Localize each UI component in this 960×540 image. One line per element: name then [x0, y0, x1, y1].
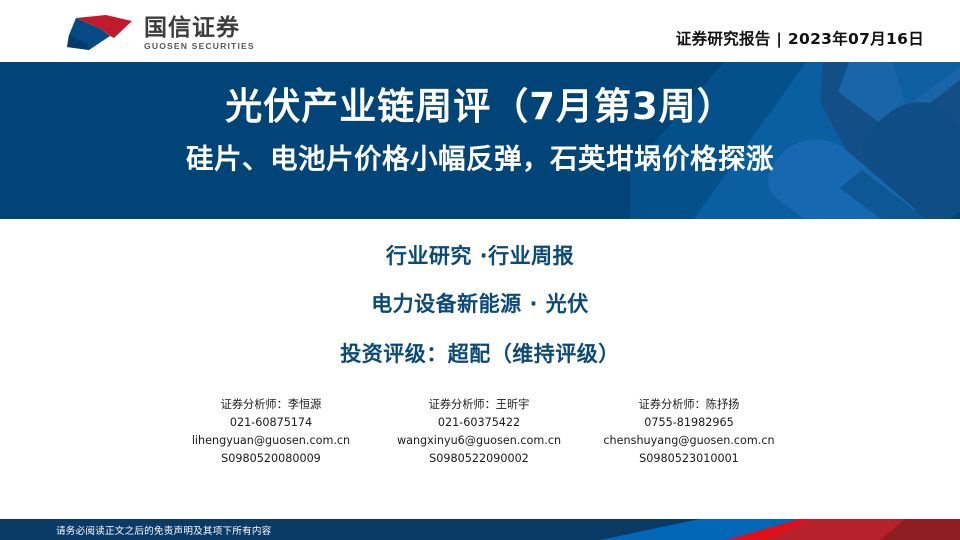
analyst-contacts: 证券分析师：李恒源 021-60875174 lihengyuan@guosen… [0, 396, 960, 469]
analyst-email[interactable]: lihengyuan@guosen.com.cn [165, 432, 377, 450]
analyst-phone: 0755-81982965 [583, 414, 795, 432]
page-subtitle: 硅片、电池片价格小幅反弹，石英坩埚价格探涨 [186, 143, 774, 176]
report-meta-block: 行业研究 ·行业周报 电力设备新能源 · 光伏 投资评级：超配（维持评级） [0, 240, 960, 368]
page-title: 光伏产业链周评（7月第3周） [225, 84, 735, 129]
analyst-certificate-number: S0980520080009 [165, 450, 377, 468]
analyst-phone: 021-60375422 [373, 414, 585, 432]
analyst-email[interactable]: chenshuyang@guosen.com.cn [583, 432, 795, 450]
page-footer: 请务必阅读正文之后的免责声明及其项下所有内容 [0, 519, 960, 540]
meta-investment-rating: 投资评级：超配（维持评级） [340, 338, 620, 368]
analyst-card: 证券分析师：王昕宇 021-60375422 wangxinyu6@guosen… [373, 396, 585, 469]
footer-disclaimer: 请务必阅读正文之后的免责声明及其项下所有内容 [56, 519, 271, 540]
banner-text-block: 光伏产业链周评（7月第3周） 硅片、电池片价格小幅反弹，石英坩埚价格探涨 [0, 62, 960, 219]
report-cover-page: 国信证券 GUOSEN SECURITIES 证券研究报告 | 2023年07月… [0, 0, 960, 540]
title-banner: 光伏产业链周评（7月第3周） 硅片、电池片价格小幅反弹，石英坩埚价格探涨 [0, 62, 960, 219]
logo-company-en: GUOSEN SECURITIES [144, 42, 255, 51]
report-type-date: 证券研究报告 | 2023年07月16日 [676, 27, 924, 49]
analyst-card: 证券分析师：李恒源 021-60875174 lihengyuan@guosen… [165, 396, 377, 469]
analyst-name: 证券分析师：陈抒扬 [583, 396, 795, 414]
analyst-phone: 021-60875174 [165, 414, 377, 432]
analyst-name: 证券分析师：李恒源 [165, 396, 377, 414]
analyst-email[interactable]: wangxinyu6@guosen.com.cn [373, 432, 585, 450]
analyst-name: 证券分析师：王昕宇 [373, 396, 585, 414]
logo-wordmark: 国信证券 GUOSEN SECURITIES [144, 16, 255, 51]
page-header: 国信证券 GUOSEN SECURITIES 证券研究报告 | 2023年07月… [0, 0, 960, 62]
analyst-certificate-number: S0980522090002 [373, 450, 585, 468]
logo-company-cn: 国信证券 [144, 16, 255, 40]
analyst-card: 证券分析师：陈抒扬 0755-81982965 chenshuyang@guos… [583, 396, 795, 469]
meta-industry-sector: 电力设备新能源 · 光伏 [371, 288, 589, 318]
analyst-certificate-number: S0980523010001 [583, 450, 795, 468]
guosen-logo-mark-icon [58, 14, 134, 52]
brand-logo: 国信证券 GUOSEN SECURITIES [58, 14, 255, 52]
meta-research-category: 行业研究 ·行业周报 [386, 240, 574, 270]
